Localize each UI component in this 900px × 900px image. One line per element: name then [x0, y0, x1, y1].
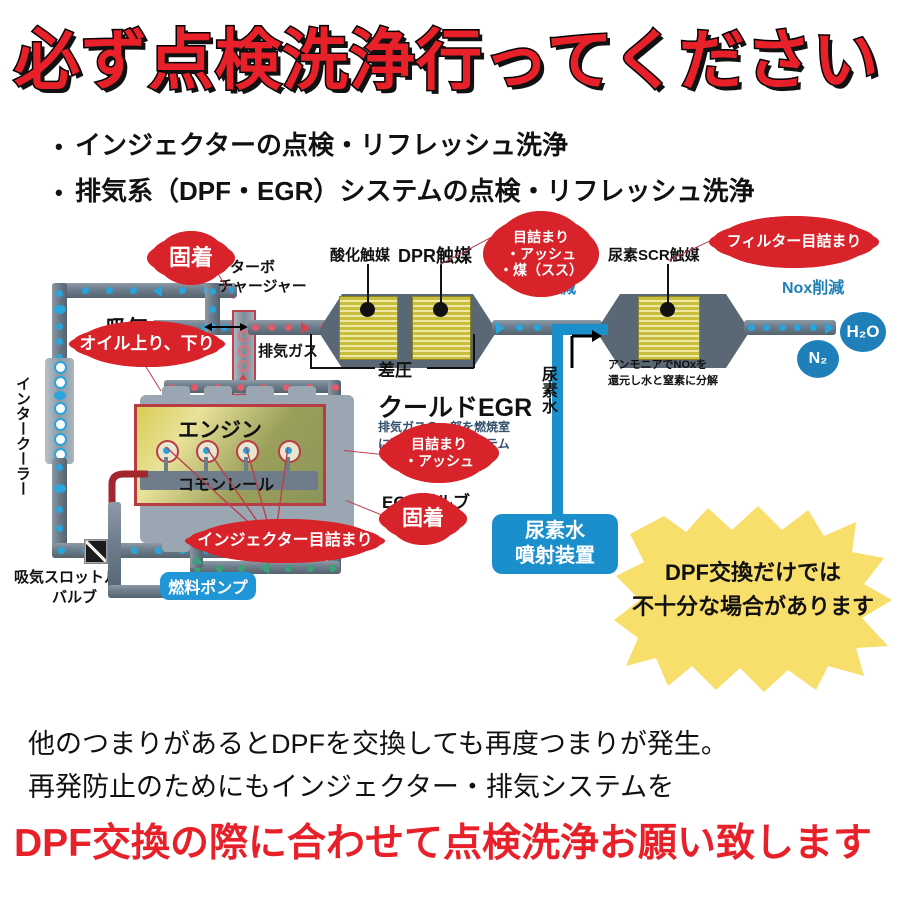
- dpr-catalyst-label: DPR触媒: [398, 242, 472, 268]
- burst-text: DPF交換だけでは 不十分な場合があります: [612, 556, 894, 624]
- urea-scr-catalyst-label: 尿素SCR触媒: [608, 244, 700, 265]
- urea-injector-box: 尿素水 噴射装置: [492, 514, 618, 574]
- dpr-catalyst-leader: [440, 264, 442, 304]
- engine-cylinder-cap: [246, 386, 274, 402]
- diffpressure-bracket-right: [427, 367, 474, 369]
- intake-throttle-valve-label-line2: バルブ: [52, 586, 97, 607]
- callout-seizure-egr-valve[interactable]: 固着: [384, 498, 462, 540]
- callout-filter-clog-text: フィルター目詰まり: [727, 233, 862, 251]
- h2o-bubble: H₂O: [840, 312, 886, 352]
- callout-clog-egr-text: 目詰まり ・アッシュ: [404, 436, 474, 469]
- engine-cylinder-cap: [288, 386, 316, 402]
- footer-line-2: 再発防止のためにもインジェクター・排気システムを: [28, 765, 674, 804]
- list-item-label: インジェクターの点検・リフレッシュ洗浄: [75, 125, 568, 162]
- exhaust-arrow-icon: [301, 322, 310, 334]
- differential-pressure-label: 差圧: [378, 356, 412, 381]
- dpf-warning-burst: DPF交換だけでは 不十分な場合があります: [612, 500, 894, 700]
- page-title: 必ず点検洗浄行ってください: [14, 18, 894, 104]
- list-item: • インジェクターの点検・リフレッシュ洗浄: [55, 125, 895, 162]
- callout-clog-egr[interactable]: 目詰まり ・アッシュ: [384, 428, 494, 478]
- nox-reduction-label: Nox削減: [782, 274, 844, 298]
- callout-oil-up-down[interactable]: オイル上り、下り: [74, 326, 220, 362]
- callout-injector-clog[interactable]: インジェクター目詰まり: [190, 524, 380, 558]
- footer-line-3-cta: DPF交換の際に合わせて点検洗浄お願い致します: [14, 812, 872, 868]
- urea-injector-label-line2: 噴射装置: [515, 544, 595, 569]
- footer-line-1: 他のつまりがあるとDPFを交換しても再度つまりが発生。: [28, 722, 728, 761]
- callout-clog-dpf-text: 目詰まり ・アッシュ ・煤（スス）: [499, 229, 583, 279]
- callout-clog-dpf[interactable]: 目詰まり ・アッシュ ・煤（スス）: [488, 216, 594, 292]
- callout-seizure-top[interactable]: 固着: [152, 236, 230, 280]
- engine-cylinder-cap: [162, 386, 190, 402]
- turbocharger-label-line2: チャージャー: [218, 275, 307, 296]
- intercooler-label: インタークーラー: [12, 376, 33, 496]
- engine-cylinder-cap: [204, 386, 232, 402]
- callout-seizure-egr-valve-text: 固着: [402, 507, 444, 532]
- bullet-dot-icon: •: [55, 134, 75, 160]
- bullet-dot-icon: •: [55, 180, 75, 206]
- turbocharger-label-line1: ターボ: [230, 256, 275, 277]
- urea-scr-catalyst-marker: [660, 302, 675, 317]
- tailpipe-dots: [748, 323, 834, 332]
- exhaust-gas-label: 排気ガス: [258, 340, 318, 361]
- ammonia-note-line2: 還元し水と窒素に分解: [608, 372, 718, 388]
- n2-label: N₂: [809, 350, 828, 368]
- h2o-label: H₂O: [846, 322, 879, 342]
- oxidation-catalyst-leader: [367, 264, 369, 304]
- urea-water-label: 尿素水: [535, 366, 559, 414]
- urea-injection-arrow-icon: [568, 328, 604, 370]
- diffpressure-leader-left: [310, 334, 312, 368]
- callout-oil-up-down-text: オイル上り、下り: [79, 334, 214, 354]
- intake-flow-dots-left-lower: [55, 464, 64, 552]
- diffpressure-leader-right: [473, 334, 475, 368]
- ammonia-note-line1: アンモニアでNOxを: [608, 356, 707, 372]
- flow-arrow-left-icon: [153, 285, 162, 297]
- list-item: • 排気系（DPF・EGR）システムの点検・リフレッシュ洗浄: [55, 171, 895, 208]
- dpr-catalyst-marker: [433, 302, 448, 317]
- n2-bubble: N₂: [797, 340, 839, 378]
- service-bullet-list: • インジェクターの点検・リフレッシュ洗浄 • 排気系（DPF・EGR）システム…: [55, 125, 895, 217]
- diffpressure-bracket-left: [310, 367, 375, 369]
- intercooler-flow-dots: [55, 361, 65, 461]
- intake-throttle-valve-icon: [84, 539, 108, 564]
- page-title-text: 必ず点検洗浄行ってください: [14, 22, 880, 99]
- burst-line-1: DPF交換だけでは: [612, 556, 894, 590]
- callout-seizure-top-text: 固着: [169, 245, 213, 271]
- poster-root: 必ず点検洗浄行ってください • インジェクターの点検・リフレッシュ洗浄 • 排気…: [0, 0, 900, 900]
- flow-arrow-down-icon: [54, 305, 66, 314]
- callout-filter-clog[interactable]: フィルター目詰まり: [714, 221, 874, 263]
- callout-injector-clog-text: インジェクター目詰まり: [197, 532, 372, 551]
- oxidation-catalyst-label: 酸化触媒: [330, 244, 390, 265]
- urea-water-pipe-vertical: [552, 324, 563, 524]
- fuel-pump-tag: 燃料ポンプ: [160, 572, 256, 600]
- fuel-pump-label: 燃料ポンプ: [168, 574, 248, 598]
- fuel-line-vertical: [108, 502, 121, 598]
- exhaust-flow-dots: [252, 323, 326, 332]
- intake-throttle-valve-label-line1: 吸気スロットル: [14, 566, 119, 587]
- egr-return-dots: [194, 564, 336, 572]
- urea-injector-label-line1: 尿素水: [515, 519, 595, 544]
- urea-scr-catalyst-leader: [667, 264, 669, 304]
- list-item-label: 排気系（DPF・EGR）システムの点検・リフレッシュ洗浄: [75, 171, 755, 208]
- burst-line-2: 不十分な場合があります: [612, 590, 894, 624]
- oxidation-catalyst-marker: [360, 302, 375, 317]
